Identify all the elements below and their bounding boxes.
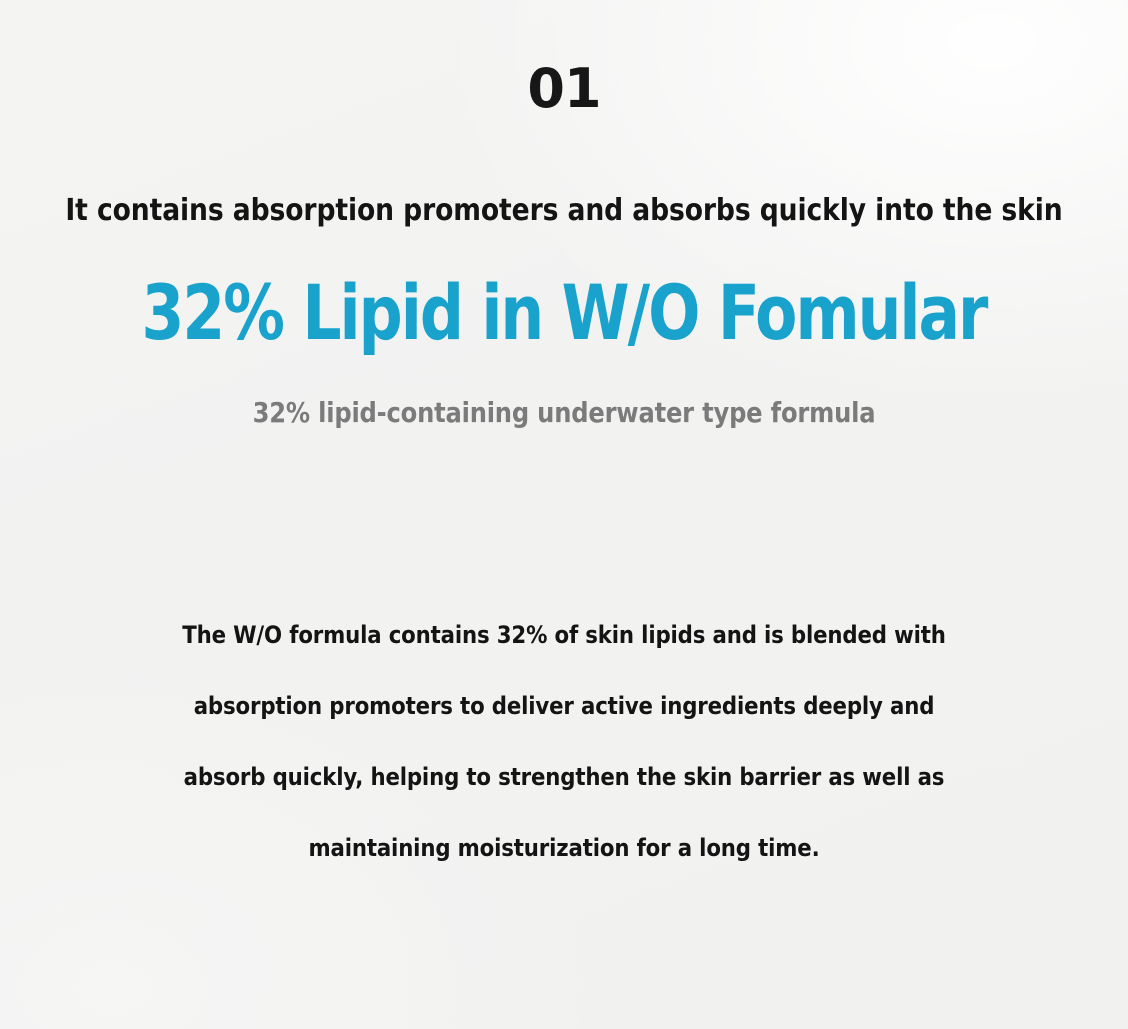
body-copy-line: absorb quickly, helping to strengthen th… bbox=[101, 742, 1027, 813]
hero-subtitle: 32% lipid-containing underwater type for… bbox=[23, 392, 1106, 434]
body-copy-line: maintaining moisturization for a long ti… bbox=[101, 813, 1027, 884]
body-copy: The W/O formula contains 32% of skin lip… bbox=[94, 600, 1034, 884]
lead-headline: It contains absorption promoters and abs… bbox=[8, 191, 1119, 231]
hero-title: 32% Lipid in W/O Fomular bbox=[56, 264, 1071, 362]
product-detail-page: 01 It contains absorption promoters and … bbox=[0, 0, 1128, 1029]
section-number: 01 bbox=[0, 57, 1128, 121]
body-copy-line: absorption promoters to deliver active i… bbox=[101, 671, 1027, 742]
body-copy-line: The W/O formula contains 32% of skin lip… bbox=[101, 600, 1027, 671]
